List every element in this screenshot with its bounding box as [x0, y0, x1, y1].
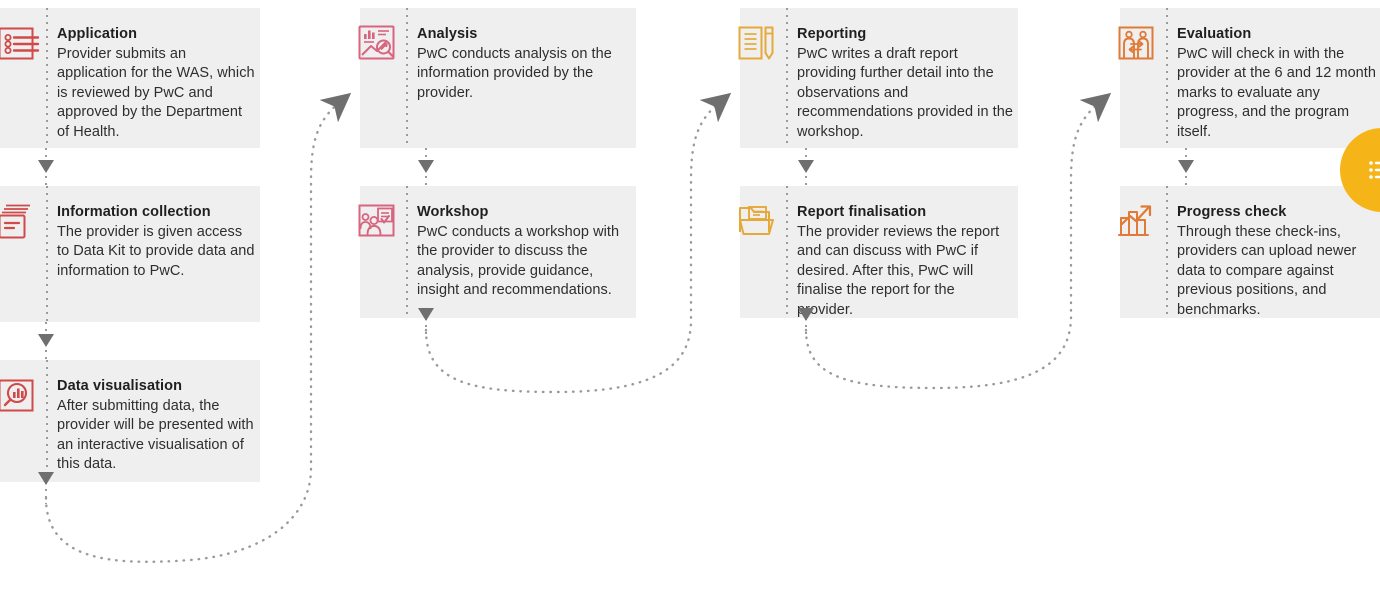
arrow-information-to-visualisation	[38, 334, 54, 347]
card-title: Information collection	[57, 203, 256, 222]
step-card-information-collection[interactable]: Information collection The provider is g…	[0, 186, 260, 322]
rail-col1-tail	[45, 482, 47, 504]
two-people-exchange-icon	[1116, 20, 1160, 64]
arrow-workshop-out	[418, 308, 434, 321]
step-card-application[interactable]: Application Provider submits an applicat…	[0, 8, 260, 148]
presentation-people-icon	[356, 198, 400, 242]
card-text: Through these check-ins, providers can u…	[1177, 223, 1376, 320]
card-title: Report finalisation	[797, 203, 1014, 222]
documents-stack-icon	[0, 198, 40, 242]
arrow-application-to-information	[38, 160, 54, 173]
card-body: Evaluation PwC will check in with the pr…	[1177, 25, 1376, 142]
list-menu-icon	[1367, 155, 1380, 185]
card-title: Progress check	[1177, 203, 1376, 222]
analytics-magnifier-icon	[356, 20, 400, 64]
arrow-evaluation-to-progress	[1178, 160, 1194, 173]
card-rail	[786, 8, 788, 148]
card-body: Progress check Through these check-ins, …	[1177, 203, 1376, 320]
folder-document-icon	[736, 198, 780, 242]
step-card-workshop[interactable]: Workshop PwC conducts a workshop with th…	[360, 186, 636, 318]
growth-chart-arrow-icon	[1116, 198, 1160, 242]
diagram-canvas: Application Provider submits an applicat…	[0, 0, 1380, 603]
card-rail	[406, 8, 408, 148]
card-title: Evaluation	[1177, 25, 1376, 44]
step-card-progress-check[interactable]: Progress check Through these check-ins, …	[1120, 186, 1380, 318]
card-text: The provider is given access to Data Kit…	[57, 223, 256, 281]
step-card-report-finalisation[interactable]: Report finalisation The provider reviews…	[740, 186, 1018, 318]
checklist-icon	[0, 20, 40, 64]
card-rail	[406, 186, 408, 318]
card-rail	[786, 186, 788, 318]
bar-chart-magnifier-icon	[0, 372, 40, 416]
step-card-data-visualisation[interactable]: Data visualisation After submitting data…	[0, 360, 260, 482]
card-rail	[46, 8, 48, 148]
step-card-reporting[interactable]: Reporting PwC writes a draft report prov…	[740, 8, 1018, 148]
card-title: Workshop	[417, 203, 632, 222]
card-text: PwC writes a draft report providing furt…	[797, 45, 1014, 142]
card-text: PwC conducts analysis on the information…	[417, 45, 632, 103]
card-title: Analysis	[417, 25, 632, 44]
card-title: Data visualisation	[57, 377, 256, 396]
card-text: Provider submits an application for the …	[57, 45, 256, 142]
document-pen-icon	[736, 20, 780, 64]
card-text: After submitting data, the provider will…	[57, 397, 256, 475]
card-title: Reporting	[797, 25, 1014, 44]
card-body: Application Provider submits an applicat…	[57, 25, 256, 142]
card-text: PwC conducts a workshop with the provide…	[417, 223, 632, 301]
card-body: Reporting PwC writes a draft report prov…	[797, 25, 1014, 142]
arrow-visualisation-out	[38, 472, 54, 485]
card-body: Analysis PwC conducts analysis on the in…	[417, 25, 632, 103]
card-title: Application	[57, 25, 256, 44]
step-card-analysis[interactable]: Analysis PwC conducts analysis on the in…	[360, 8, 636, 148]
card-rail	[46, 186, 48, 322]
arrow-reporting-to-finalisation	[798, 160, 814, 173]
card-body: Data visualisation After submitting data…	[57, 377, 256, 475]
step-card-evaluation[interactable]: Evaluation PwC will check in with the pr…	[1120, 8, 1380, 148]
card-rail	[1166, 186, 1168, 318]
card-body: Workshop PwC conducts a workshop with th…	[417, 203, 632, 301]
card-body: Information collection The provider is g…	[57, 203, 256, 281]
card-text: The provider reviews the report and can …	[797, 223, 1014, 320]
card-body: Report finalisation The provider reviews…	[797, 203, 1014, 320]
card-text: PwC will check in with the provider at t…	[1177, 45, 1376, 142]
card-rail	[46, 360, 48, 482]
card-rail	[1166, 8, 1168, 148]
connector-col1-to-col2	[46, 102, 340, 562]
arrow-finalisation-out	[798, 308, 814, 321]
arrow-analysis-to-workshop	[418, 160, 434, 173]
